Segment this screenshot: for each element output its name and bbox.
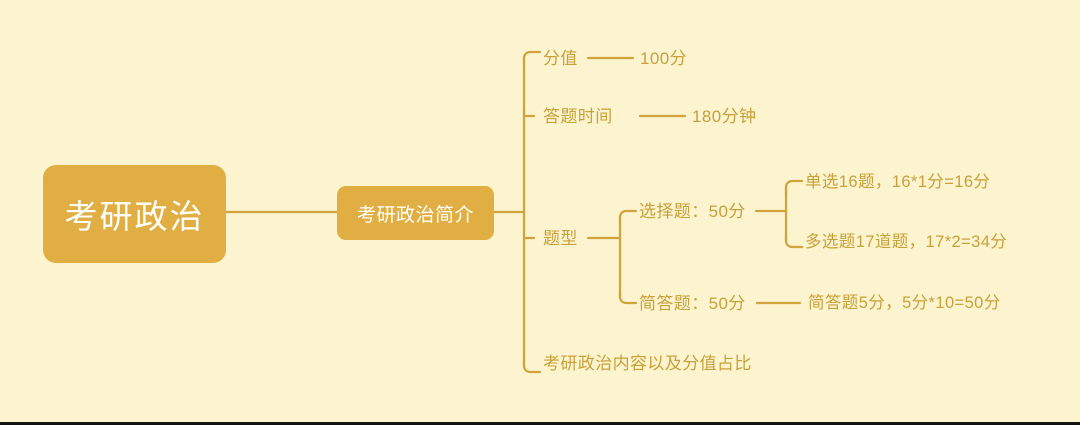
branch-label-score[interactable]: 分值 (543, 50, 578, 67)
branch-label-short-answer[interactable]: 简答题：50分 (639, 295, 746, 312)
elbow-type-choice (620, 211, 636, 223)
mindmap-canvas: 考研政治 考研政治简介 分值 100分 答题时间 180分钟 题型 选择题：50… (0, 0, 1080, 425)
branch-label-multi-choice[interactable]: 多选题17道题，17*2=34分 (805, 234, 1007, 251)
branch-label-single-choice[interactable]: 单选16题，16*1分=16分 (805, 174, 990, 191)
elbow-branch-ratio (524, 360, 540, 372)
elbow-branch-score (524, 52, 540, 64)
root-node-label: 考研政治 (65, 190, 205, 238)
branch-label-time[interactable]: 答题时间 (543, 108, 613, 125)
branch-value-short-answer[interactable]: 简答题5分，5分*10=50分 (808, 295, 1001, 312)
branch-label-content-ratio[interactable]: 考研政治内容以及分值占比 (543, 355, 752, 372)
elbow-choice-single (786, 181, 802, 193)
branch-label-choice[interactable]: 选择题：50分 (639, 203, 746, 220)
branch-label-type[interactable]: 题型 (543, 230, 578, 247)
root-node[interactable]: 考研政治 (43, 165, 226, 263)
branch-value-score[interactable]: 100分 (640, 50, 687, 67)
intro-node-label: 考研政治简介 (357, 200, 474, 227)
intro-node[interactable]: 考研政治简介 (337, 186, 494, 240)
branch-value-time[interactable]: 180分钟 (692, 108, 756, 125)
elbow-type-short (620, 291, 636, 303)
elbow-choice-multi (786, 235, 802, 247)
